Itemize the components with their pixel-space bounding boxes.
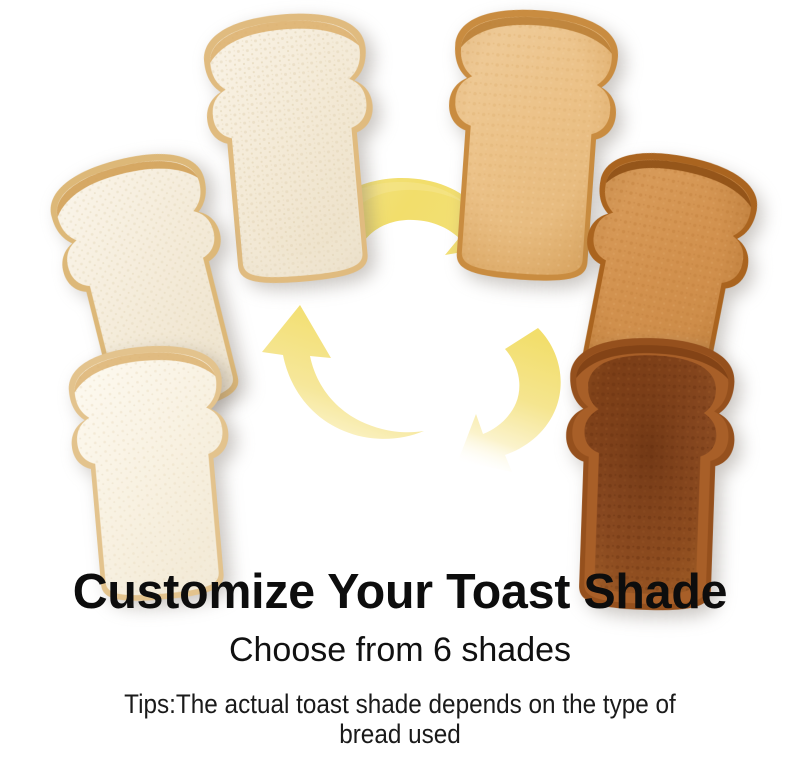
counter-arrow-left-icon [262,305,424,439]
tips-line-1: Tips:The actual toast shade depends on t… [124,689,596,719]
tips-text: Tips:The actual toast shade depends on t… [112,667,688,749]
bread-shade-wheel [0,0,800,552]
infographic-root: Customize Your Toast Shade Choose from 6… [0,0,800,771]
page-title: Customize Your Toast Shade [6,552,794,617]
caption-block: Customize Your Toast Shade Choose from 6… [0,552,800,771]
page-subtitle: Choose from 6 shades [0,617,800,667]
